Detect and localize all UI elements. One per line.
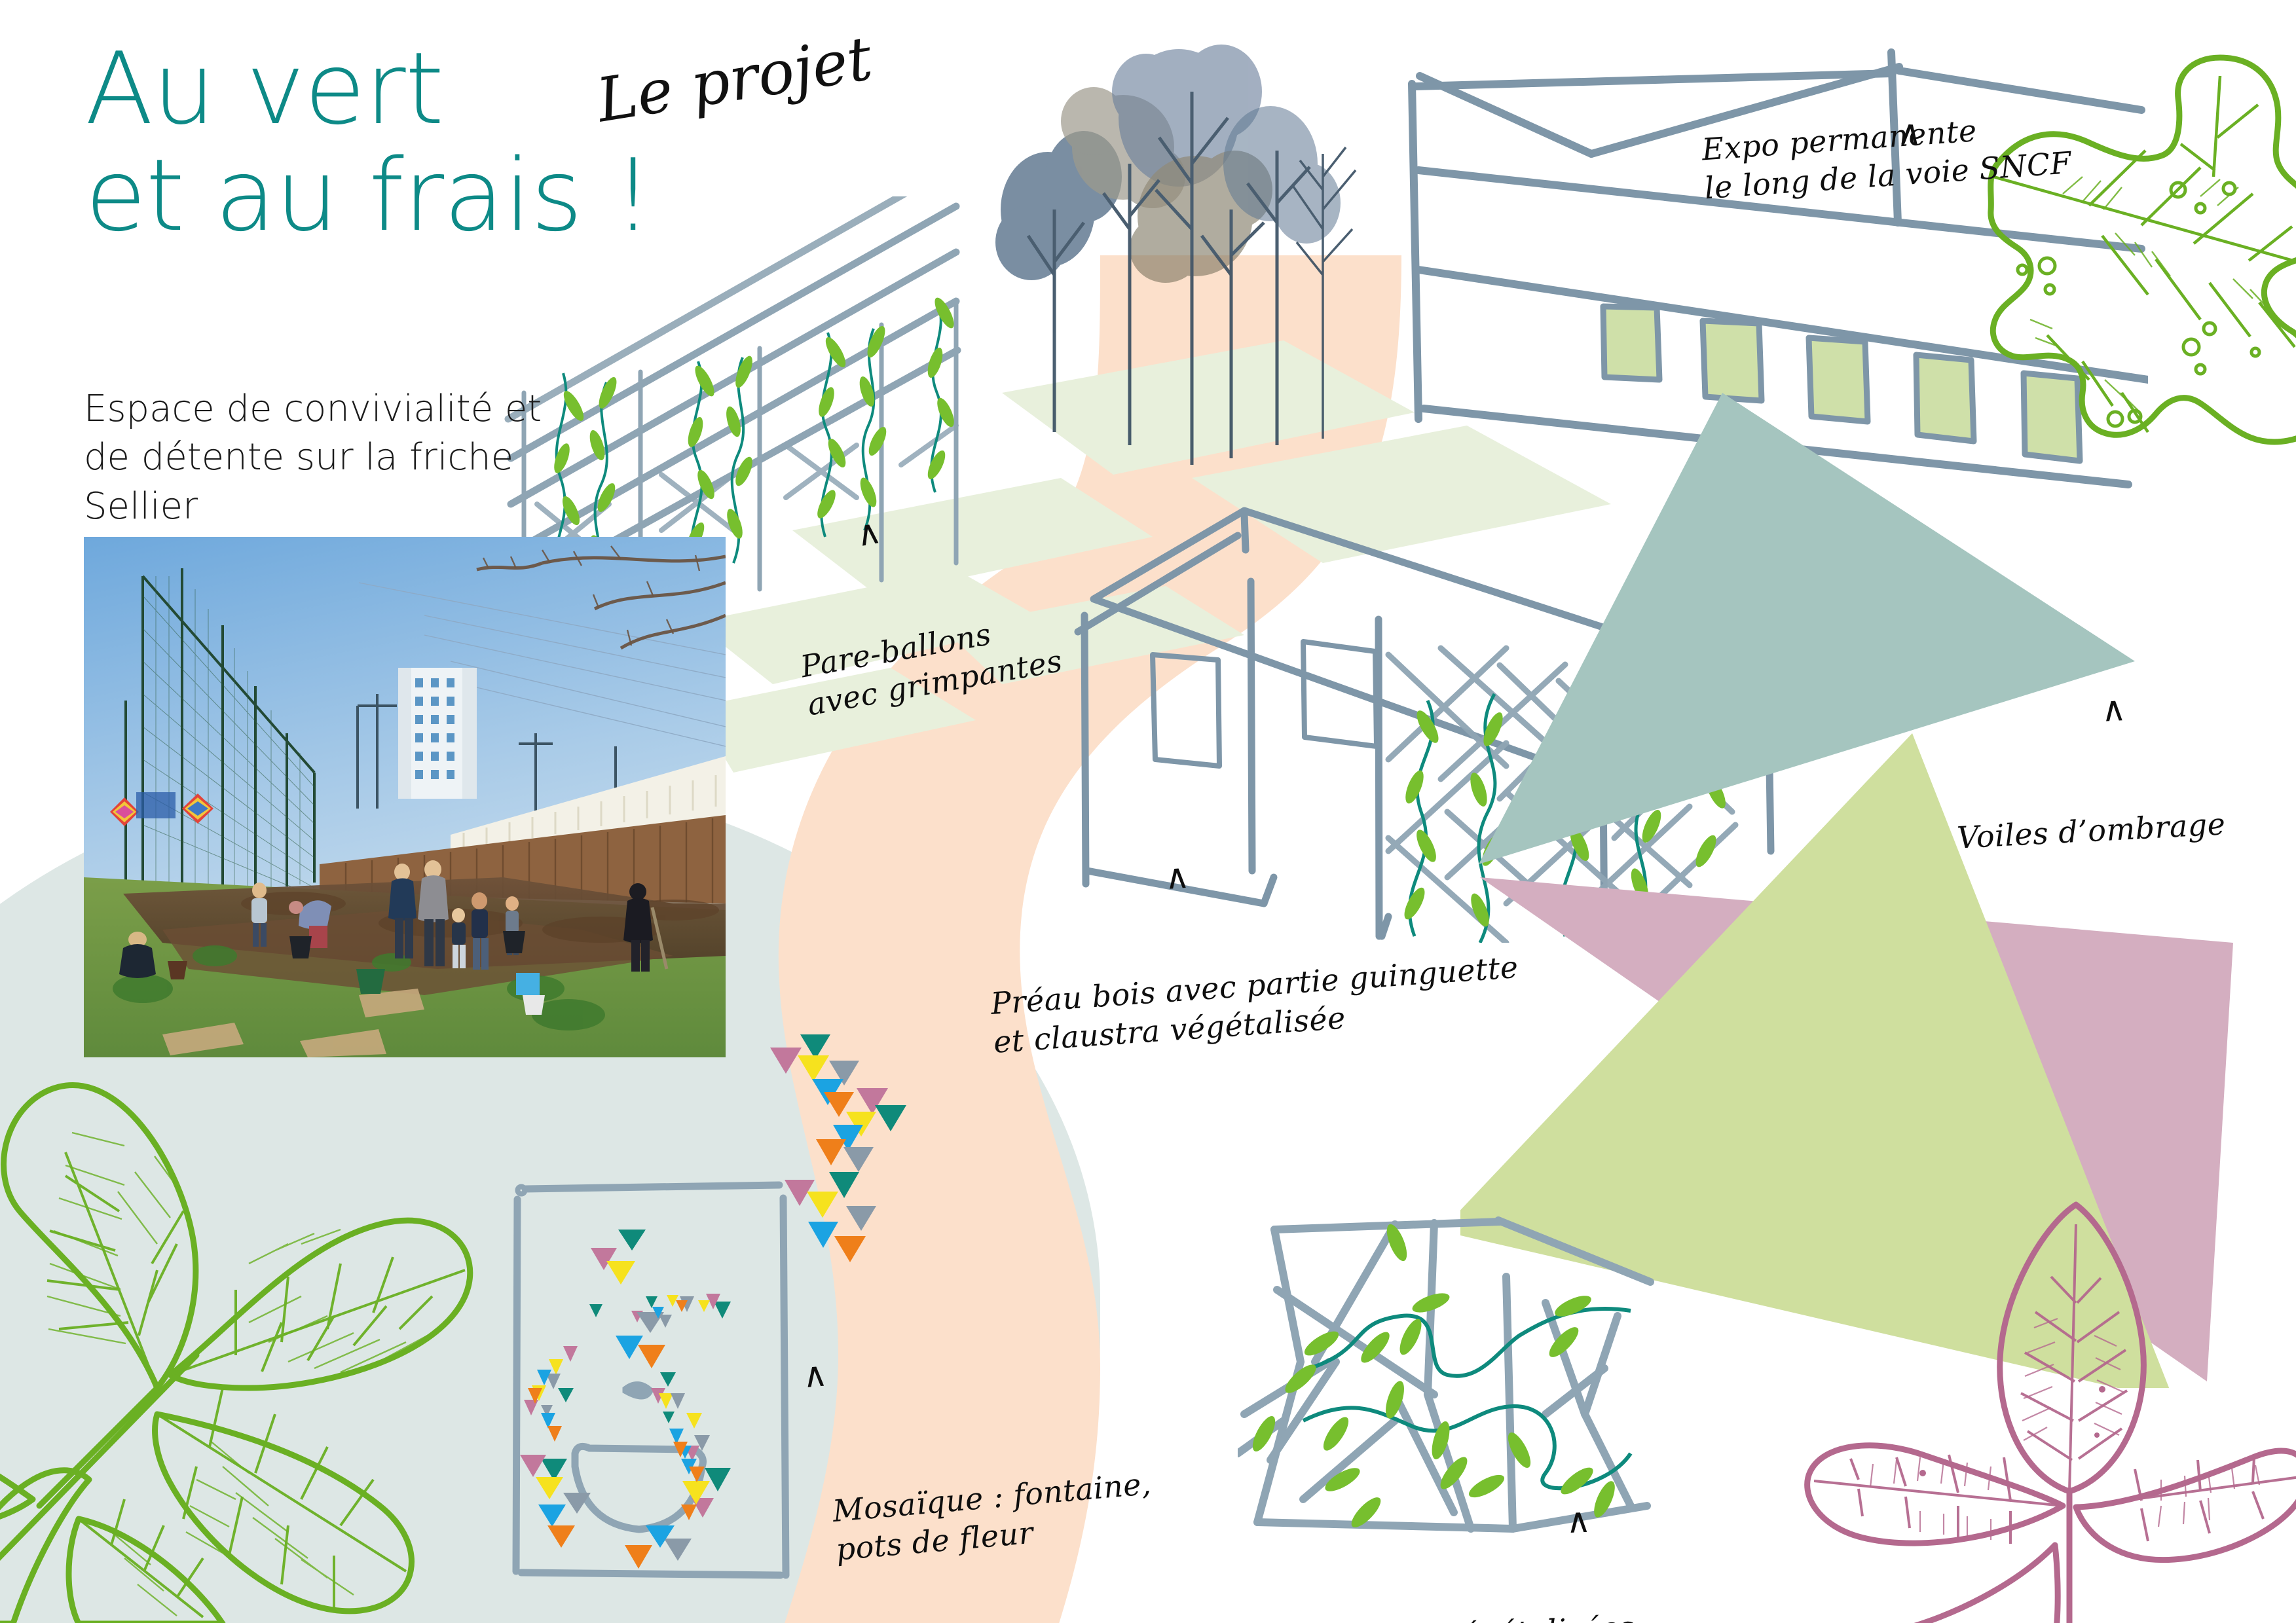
palissade-trellis-sketch xyxy=(1238,1198,1657,1545)
caret-icon-preau: ∧ xyxy=(1163,859,1191,895)
caret-icon-mosaique: ∧ xyxy=(801,1357,829,1393)
poster-canvas: Au vert et au frais ! Le projet Espace d… xyxy=(0,0,2296,1623)
title-line-2: et au frais ! xyxy=(85,143,1002,249)
green-leaf-branch-illustration xyxy=(0,1048,524,1623)
garden-workshop-photo xyxy=(84,537,726,1057)
annotation-mosaique: ∧ Mosaïque : fontaine, pots de fleur xyxy=(824,1387,1157,1569)
annotation-expo: ∧ Expo permanente le long de la voie SNC… xyxy=(1695,28,2072,208)
caret-icon-palissades: ∧ xyxy=(1565,1504,1592,1539)
pink-leaf-branch-illustration xyxy=(1794,1198,2296,1623)
caret-icon-expo: ∧ xyxy=(1897,115,1924,151)
caret-icon-voiles: ∧ xyxy=(2100,692,2127,727)
page-subtitle: Espace de convivialité et de détente sur… xyxy=(84,385,582,531)
mosaic-triangles xyxy=(520,1230,731,1569)
annotation-palissades: ∧ Palissades végétalisées xyxy=(1268,1531,1635,1623)
annotation-voiles: ∧ Voiles d’ombrage xyxy=(1952,727,2227,857)
annotation-palissades-text: Palissades végétalisées xyxy=(1272,1609,1635,1623)
